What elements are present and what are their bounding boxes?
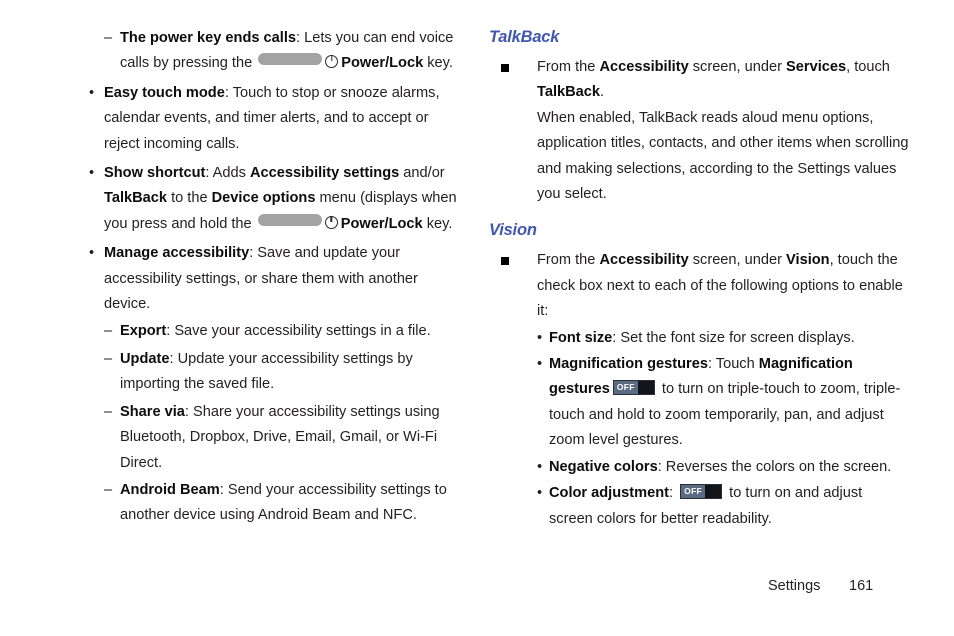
footer-page-number: 161 — [849, 578, 873, 594]
list-item: • Show shortcut: Adds Accessibility sett… — [88, 161, 460, 237]
toggle-state-label: OFF — [614, 381, 638, 394]
item-bold-services: Services — [786, 59, 846, 75]
item-text: , touch — [846, 59, 890, 75]
power-symbol-icon — [325, 55, 338, 68]
dash-marker: – — [104, 400, 112, 425]
section-heading-talkback: TalkBack — [489, 26, 909, 48]
bullet-marker: • — [537, 326, 542, 351]
power-symbol-icon — [325, 216, 338, 229]
list-item: – Android Beam: Send your accessibility … — [104, 478, 460, 529]
item-text: : Adds — [205, 165, 250, 181]
item-text: to the — [167, 190, 212, 206]
power-key-pill-icon — [258, 214, 322, 226]
item-bold-accessibility: Accessibility — [599, 59, 688, 75]
toggle-state-label: OFF — [681, 485, 705, 498]
square-bullet-icon — [501, 64, 509, 72]
item-text-end: key. — [423, 55, 453, 71]
bullet-marker: • — [537, 352, 542, 377]
item-text-end: key. — [423, 216, 453, 232]
list-item: • Font size: Set the font size for scree… — [489, 326, 909, 351]
item-lead-label: Export — [120, 323, 166, 339]
item-lead-label: The power key ends calls — [120, 30, 296, 46]
bullet-marker: • — [89, 161, 94, 186]
dash-marker: – — [104, 478, 112, 503]
dash-marker: – — [104, 347, 112, 372]
item-lead-label: Negative colors — [549, 459, 658, 475]
item-lead-label: Share via — [120, 404, 185, 420]
list-item: – Share via: Share your accessibility se… — [104, 400, 460, 476]
right-column: TalkBack From the Accessibility screen, … — [489, 26, 909, 532]
item-text: screen, under — [689, 59, 786, 75]
item-text: screen, under — [689, 252, 786, 268]
item-text: From the — [537, 252, 599, 268]
item-text: : Reverses the colors on the screen. — [658, 459, 892, 475]
dash-marker: – — [104, 26, 112, 51]
item-lead-label: Easy touch mode — [104, 85, 225, 101]
item-text: From the — [537, 59, 599, 75]
item-text: : Set the font size for screen displays. — [612, 330, 855, 346]
item-text: : Save your accessibility settings in a … — [166, 323, 430, 339]
bullet-marker: • — [89, 241, 94, 266]
item-bold-tail: Power/Lock — [341, 216, 423, 232]
list-item: • Magnification gestures: Touch Magnific… — [489, 352, 909, 454]
left-column: – The power key ends calls: Lets you can… — [88, 26, 460, 529]
item-lead-label: Color adjustment — [549, 485, 669, 501]
manual-page: – The power key ends calls: Lets you can… — [0, 0, 954, 636]
section-paragraph-talkback: When enabled, TalkBack reads aloud menu … — [489, 106, 909, 208]
item-bold-accessibility: Accessibility — [599, 252, 688, 268]
square-bullet-icon — [501, 257, 509, 265]
list-item: – Export: Save your accessibility settin… — [104, 319, 460, 344]
item-text-end: . — [600, 84, 604, 100]
item-lead-label: Update — [120, 351, 169, 367]
item-bold-accessibility-settings: Accessibility settings — [250, 165, 399, 181]
section-heading-vision: Vision — [489, 219, 909, 241]
off-toggle-switch[interactable]: OFF — [613, 380, 655, 395]
list-item: From the Accessibility screen, under Vis… — [489, 248, 909, 324]
list-item: • Manage accessibility: Save and update … — [88, 241, 460, 317]
item-text: : Touch — [708, 356, 759, 372]
item-bold-tail: Power/Lock — [341, 55, 423, 71]
item-lead-label: Font size — [549, 330, 612, 346]
footer-section-label: Settings — [768, 578, 820, 594]
item-text: and/or — [399, 165, 444, 181]
bullet-marker: • — [89, 81, 94, 106]
item-lead-label: Android Beam — [120, 482, 220, 498]
item-bold-vision: Vision — [786, 252, 830, 268]
list-item: – The power key ends calls: Lets you can… — [104, 26, 460, 77]
item-lead-label: Magnification gestures — [549, 356, 708, 372]
list-item: From the Accessibility screen, under Ser… — [489, 55, 909, 106]
item-lead-label: Manage accessibility — [104, 245, 249, 261]
item-bold-talkback: TalkBack — [104, 190, 167, 206]
item-bold-talkback: TalkBack — [537, 84, 600, 100]
page-footer: Settings 161 — [0, 578, 954, 602]
list-item: – Update: Update your accessibility sett… — [104, 347, 460, 398]
off-toggle-switch[interactable]: OFF — [680, 484, 722, 499]
item-text: : — [669, 485, 677, 501]
item-bold-device-options: Device options — [212, 190, 316, 206]
bullet-marker: • — [537, 481, 542, 506]
item-lead-label: Show shortcut — [104, 165, 205, 181]
dash-marker: – — [104, 319, 112, 344]
bullet-marker: • — [537, 455, 542, 480]
power-key-pill-icon — [258, 53, 322, 65]
list-item: • Negative colors: Reverses the colors o… — [489, 455, 909, 480]
list-item: • Easy touch mode: Touch to stop or snoo… — [88, 81, 460, 157]
list-item: • Color adjustment: OFF to turn on and a… — [489, 481, 909, 532]
